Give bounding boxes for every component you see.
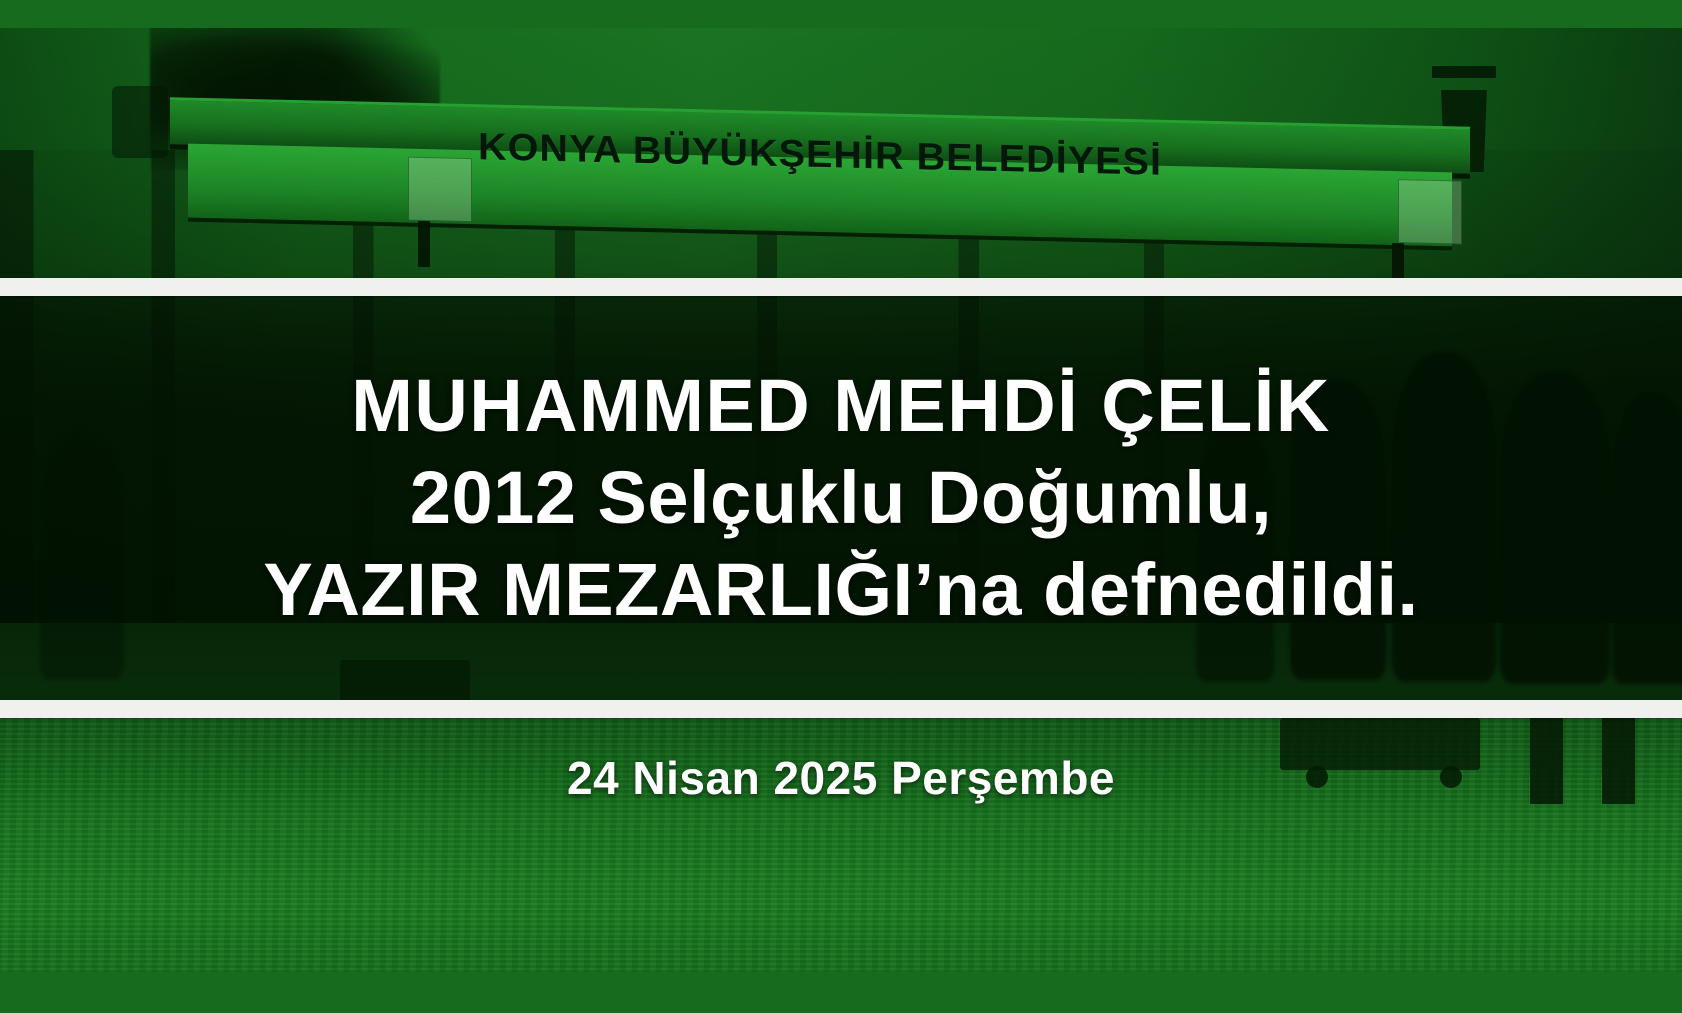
headline-block: MUHAMMED MEHDİ ÇELİK 2012 Selçuklu Doğum… bbox=[0, 296, 1682, 700]
chimney-cap bbox=[1432, 66, 1496, 78]
catafalque-leg bbox=[418, 221, 430, 267]
divider-bottom bbox=[0, 700, 1682, 718]
burial-info: YAZIR MEZARLIĞI’na defnedildi. bbox=[263, 547, 1418, 633]
brand-band-bottom bbox=[0, 972, 1682, 1013]
birth-info: 2012 Selçuklu Doğumlu, bbox=[410, 455, 1272, 541]
divider-top bbox=[0, 278, 1682, 296]
announcement-date: 24 Nisan 2025 Perşembe bbox=[567, 751, 1115, 805]
brand-band-top bbox=[0, 0, 1682, 28]
date-block: 24 Nisan 2025 Perşembe bbox=[0, 728, 1682, 828]
memorial-announcement-card: KONYA BÜYÜKŞEHİR BELEDİYESİ MUHAMMED MEH… bbox=[0, 0, 1682, 1013]
deceased-name: MUHAMMED MEHDİ ÇELİK bbox=[351, 363, 1331, 449]
